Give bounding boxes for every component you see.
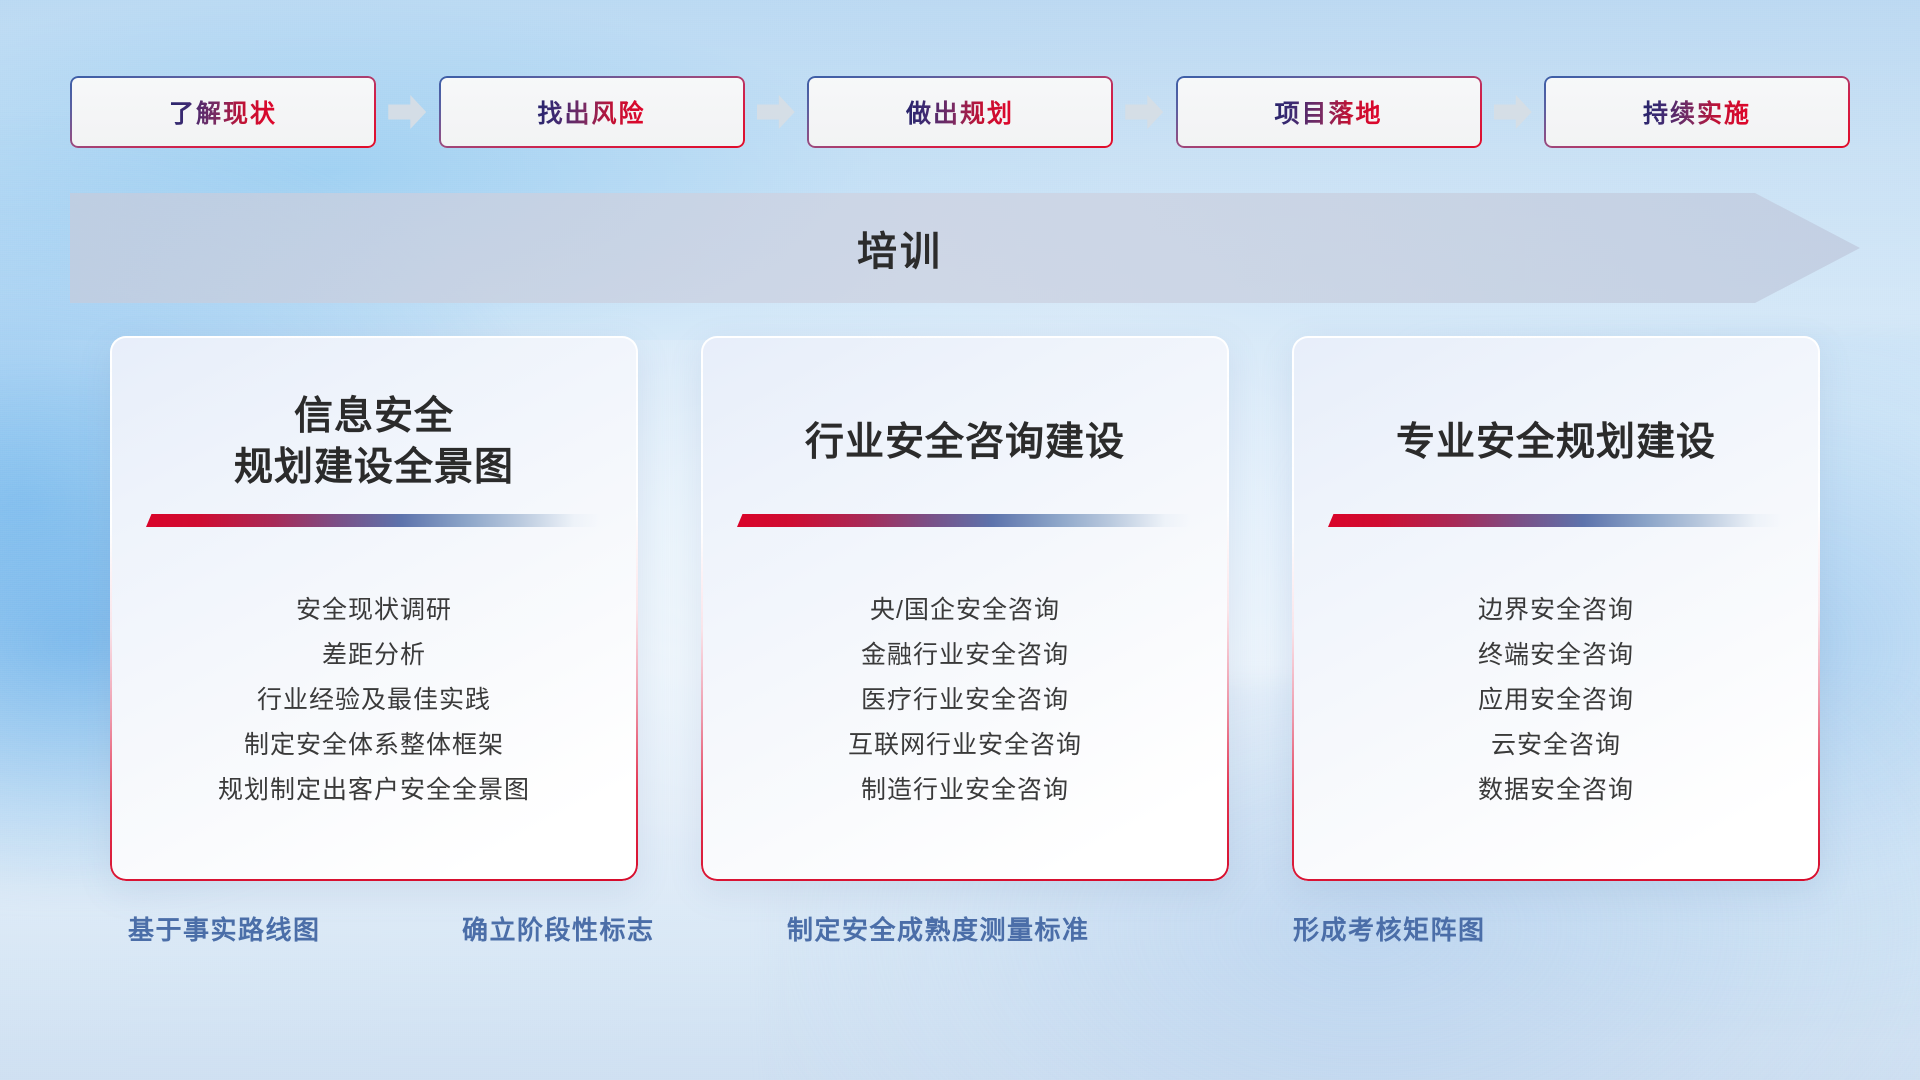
card-item-list: 央/国企安全咨询 金融行业安全咨询 医疗行业安全咨询 互联网行业安全咨询 制造行… — [701, 554, 1229, 813]
step-label-5: 持续实施 — [1643, 94, 1751, 130]
cards-row: 信息安全 规划建设全景图 安全现状调研 差距分析 行业经验及最佳实践 制定安全体… — [110, 336, 1820, 881]
card-divider — [1328, 514, 1783, 527]
card-industry-security-consulting[interactable]: 行业安全咨询建设 央/国企安全咨询 金融行业安全咨询 医疗行业安全咨询 互联网行… — [701, 336, 1229, 881]
step-label-4: 项目落地 — [1274, 94, 1382, 130]
bottom-labels-row: 基于事实路线图 确立阶段性标志 制定安全成熟度测量标准 形成考核矩阵图 — [0, 910, 1920, 954]
list-item: 云安全咨询 — [1292, 723, 1820, 768]
list-item: 医疗行业安全咨询 — [701, 678, 1229, 723]
list-item: 差距分析 — [110, 633, 638, 678]
card-title: 专业安全规划建设 — [1396, 418, 1716, 469]
arrow-right-icon — [1125, 95, 1163, 129]
arrow-right-icon — [1494, 95, 1532, 129]
list-item: 制定安全体系整体框架 — [110, 723, 638, 768]
card-item-list: 边界安全咨询 终端安全咨询 应用安全咨询 云安全咨询 数据安全咨询 — [1292, 554, 1820, 813]
card-inner: 行业安全咨询建设 央/国企安全咨询 金融行业安全咨询 医疗行业安全咨询 互联网行… — [701, 336, 1229, 881]
list-item: 规划制定出客户安全全景图 — [110, 768, 638, 813]
banner-title: 培训 — [70, 193, 1730, 303]
bottom-label-2: 确立阶段性标志 — [462, 910, 655, 947]
card-inner: 信息安全 规划建设全景图 安全现状调研 差距分析 行业经验及最佳实践 制定安全体… — [110, 336, 638, 881]
bottom-label-4: 形成考核矩阵图 — [1293, 910, 1486, 947]
bottom-label-1: 基于事实路线图 — [128, 910, 321, 947]
list-item: 终端安全咨询 — [1292, 633, 1820, 678]
step-label-2: 找出风险 — [537, 94, 645, 130]
list-item: 安全现状调研 — [110, 588, 638, 633]
list-item: 边界安全咨询 — [1292, 588, 1820, 633]
bottom-label-3: 制定安全成熟度测量标准 — [787, 910, 1090, 947]
step-box-4[interactable]: 项目落地 — [1176, 76, 1482, 148]
card-item-list: 安全现状调研 差距分析 行业经验及最佳实践 制定安全体系整体框架 规划制定出客户… — [110, 554, 638, 813]
training-banner: 培训 — [70, 193, 1860, 303]
card-info-security-blueprint[interactable]: 信息安全 规划建设全景图 安全现状调研 差距分析 行业经验及最佳实践 制定安全体… — [110, 336, 638, 881]
step-box-1[interactable]: 了解现状 — [70, 76, 376, 148]
list-item: 央/国企安全咨询 — [701, 588, 1229, 633]
arrow-right-icon — [388, 95, 426, 129]
card-divider — [737, 514, 1192, 527]
step-label-1: 了解现状 — [169, 94, 277, 130]
arrow-right-icon — [757, 95, 795, 129]
list-item: 制造行业安全咨询 — [701, 768, 1229, 813]
card-inner: 专业安全规划建设 边界安全咨询 终端安全咨询 应用安全咨询 云安全咨询 数据安全… — [1292, 336, 1820, 881]
card-divider — [146, 514, 601, 527]
list-item: 应用安全咨询 — [1292, 678, 1820, 723]
step-box-2[interactable]: 找出风险 — [439, 76, 745, 148]
list-item: 数据安全咨询 — [1292, 768, 1820, 813]
step-box-5[interactable]: 持续实施 — [1544, 76, 1850, 148]
card-title: 行业安全咨询建设 — [805, 418, 1125, 469]
step-box-3[interactable]: 做出规划 — [807, 76, 1113, 148]
card-professional-security-planning[interactable]: 专业安全规划建设 边界安全咨询 终端安全咨询 应用安全咨询 云安全咨询 数据安全… — [1292, 336, 1820, 881]
card-title: 信息安全 规划建设全景图 — [234, 392, 514, 493]
list-item: 互联网行业安全咨询 — [701, 723, 1229, 768]
list-item: 金融行业安全咨询 — [701, 633, 1229, 678]
list-item: 行业经验及最佳实践 — [110, 678, 638, 723]
process-steps-row: 了解现状 找出风险 做出规划 项目落地 持续实施 — [70, 76, 1850, 148]
step-label-3: 做出规划 — [906, 94, 1014, 130]
